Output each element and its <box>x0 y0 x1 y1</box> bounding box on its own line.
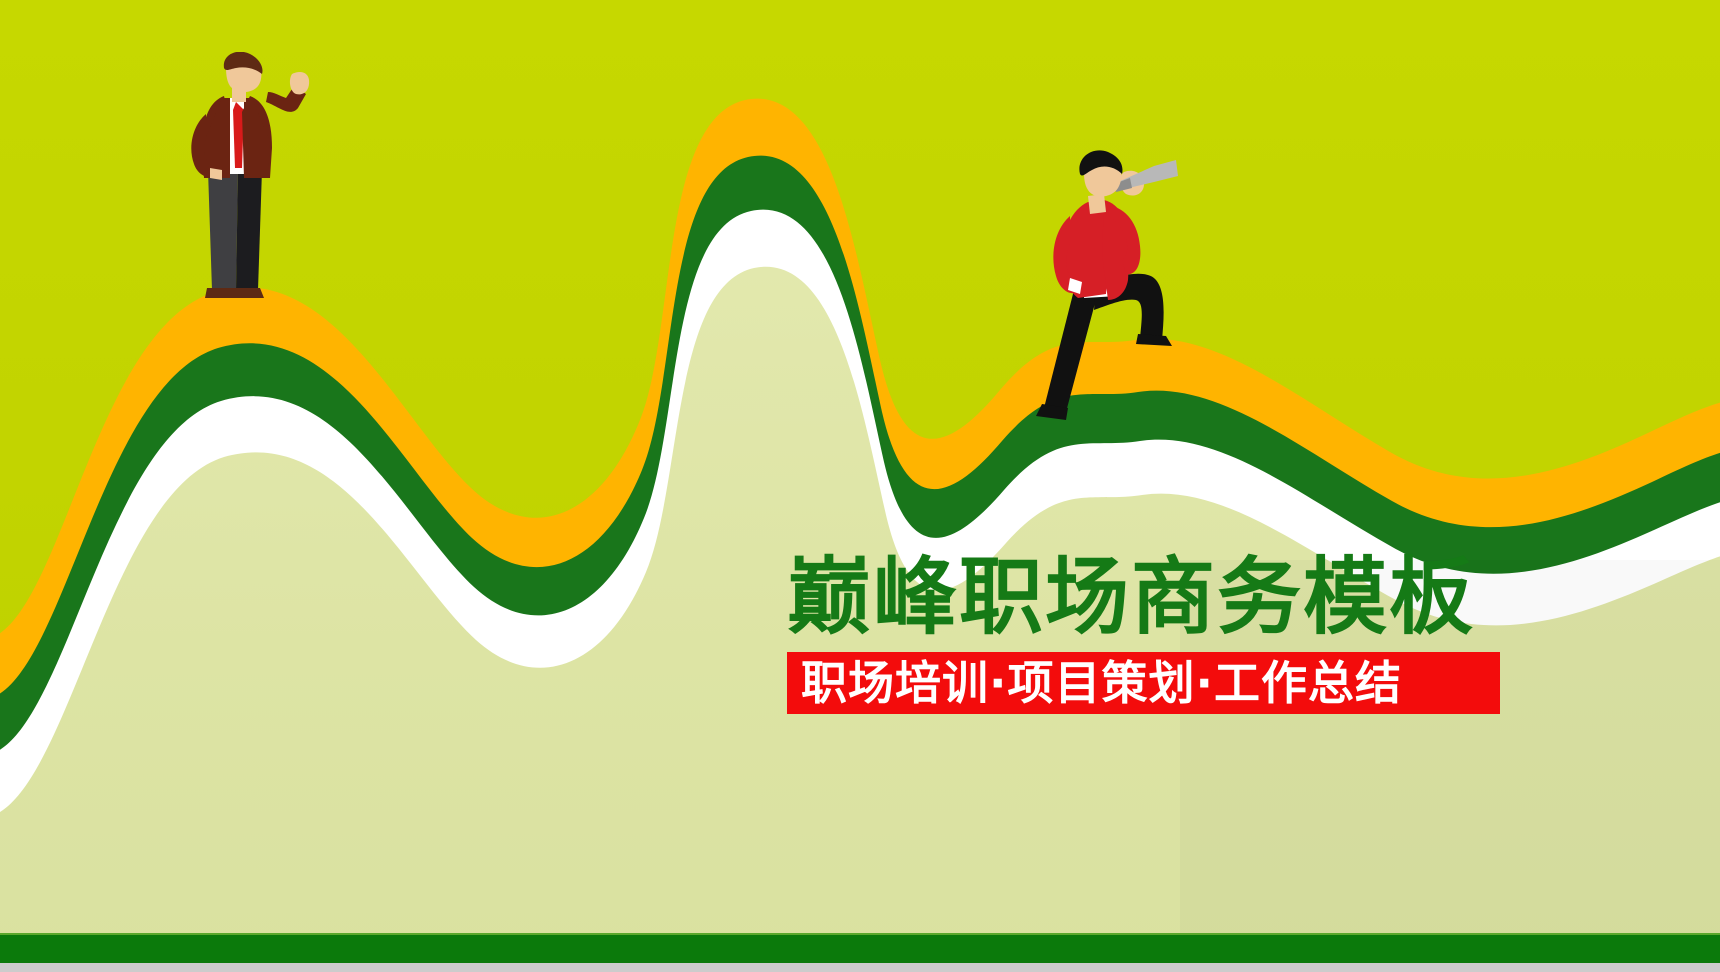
left-figure-trousers-back <box>236 170 262 290</box>
left-figure-trousers-front <box>208 170 238 290</box>
right-figure-neck <box>1088 194 1106 214</box>
figure-right-businessman-telescope <box>1026 150 1202 422</box>
subtitle-text: 职场培训·项目策划·工作总结 <box>801 660 1402 706</box>
subtitle-banner: 职场培训·项目策划·工作总结 <box>787 652 1500 714</box>
figure-left-businessman <box>180 52 340 304</box>
right-figure-front-shoe <box>1136 334 1172 346</box>
left-figure-hand-hip <box>210 168 222 180</box>
presentation-slide: 巅峰职场商务模板 职场培训·项目策划·工作总结 <box>0 0 1720 972</box>
footer-green-bar <box>0 933 1720 965</box>
title-text-block: 巅峰职场商务模板 职场培训·项目策划·工作总结 <box>787 552 1500 714</box>
right-figure-back-leg <box>1044 290 1098 412</box>
left-figure-shoe-back <box>234 288 264 298</box>
left-figure-hand-raised <box>290 72 309 94</box>
left-figure-shoe-front <box>205 288 239 298</box>
footer-gray-strip <box>0 963 1720 972</box>
page-title: 巅峰职场商务模板 <box>787 552 1500 643</box>
